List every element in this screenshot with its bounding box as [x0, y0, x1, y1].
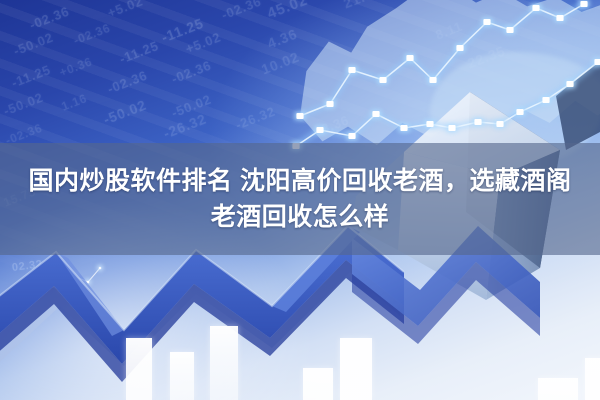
banner-title: 国内炒股软件排名 沈阳高价回收老酒，选藏酒阁 老酒回收怎么样: [0, 143, 600, 255]
bar-1: [126, 338, 152, 400]
bar-2: [170, 352, 194, 400]
bar-5: [340, 338, 372, 400]
title-line-1: 国内炒股软件排名 沈阳高价回收老酒，选藏酒阁: [29, 166, 572, 196]
bar-3: [210, 326, 238, 400]
bar-7: [585, 358, 600, 400]
bar-4: [303, 368, 333, 400]
title-line-2: 老酒回收怎么样: [211, 202, 390, 232]
stock-banner-image: -02.36+5.02-11.25-02.3645.0221.36-50.02-…: [0, 0, 600, 400]
bar-6: [538, 378, 578, 400]
